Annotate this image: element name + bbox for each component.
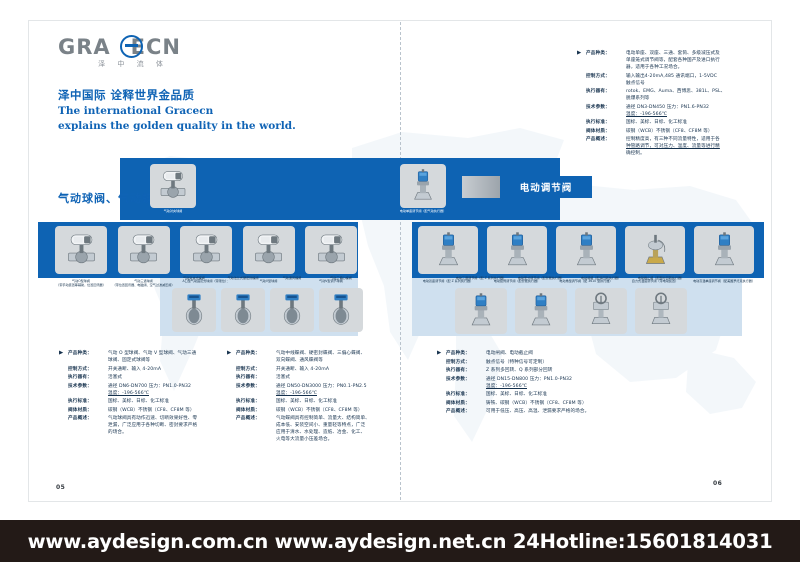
spec-value: Z 系列多回转、Q 系列部分回转 bbox=[486, 367, 622, 374]
caption-line-1: 电动高温单座调节阀（配美国罗托克执行器） bbox=[688, 279, 760, 283]
pneumatic-fixed-ball-valve-icon bbox=[187, 231, 226, 270]
spec-value-line: 温度：-196-566℃ bbox=[108, 390, 244, 397]
spec-value: 控制精度高，有三种不同流量特性，适用于各种管路调节，可对压力、温度、流量等进行精… bbox=[626, 136, 762, 157]
spec-value-line: 应用于清水、水处理、造纸、冶金、化工、 bbox=[276, 429, 412, 436]
slogan-block: 泽中国际 诠释世界金品质 The international Gracecn e… bbox=[58, 88, 296, 133]
spec-value-line: 气动蝶阀具有控制简单、流量大、结构简单、 bbox=[276, 415, 412, 422]
spec-key: 技术参数： bbox=[586, 104, 626, 118]
right-title-tail bbox=[462, 176, 502, 198]
spec-value-line: 国标、美标、日标、化工标准 bbox=[276, 398, 412, 405]
pneumatic-ventilation-butterfly-valve-icon bbox=[274, 292, 310, 328]
product-card-electric-gate-valve[interactable] bbox=[575, 288, 627, 334]
spec-value-line: 电动闸阀、电动截止阀 bbox=[486, 350, 622, 357]
spec-key: 技术参数： bbox=[446, 376, 486, 390]
product-card-electric-single-seat-control-valve[interactable] bbox=[400, 164, 446, 208]
spec-row: 控制方式：开关通断、输入 4-20mA bbox=[68, 366, 244, 373]
spec-row: 技术参数：通径 DN6-DN700 压力：PN1.0-PN32温度：-196-5… bbox=[68, 383, 244, 397]
product-card-electric-sleeve-control-valve[interactable] bbox=[487, 226, 547, 274]
spec-value: 气动中线蝶阀、硬密封蝶阀、三偏心蝶阀、双向蝶阀、通风蝶阀等 bbox=[276, 350, 412, 364]
caption-line-1: 电动三通调节阀（配 Z 系列执行器） bbox=[447, 276, 515, 280]
spec-value-line: 铸铁、碳钢（WCB）不锈钢（CF8、CF8M 等） bbox=[486, 400, 622, 407]
spec-value-line: 国标、美标、日标、化工标准 bbox=[486, 391, 622, 398]
footer-banner: www.aydesign.com.cn www.aydesign.net.cn … bbox=[0, 520, 800, 562]
spec-value: 电动闸阀、电动截止阀 bbox=[486, 350, 622, 357]
spec-value: 开关通断、输入 4-20mA bbox=[108, 366, 244, 373]
spec-key: 阀体材质： bbox=[446, 400, 486, 407]
spec-row: 技术参数：通径 DN50-DN3000 压力：PN0.1-PN2.5温度：-19… bbox=[236, 383, 412, 397]
spec-bullet-arrow-icon: ▶ bbox=[437, 350, 441, 356]
spec-row: 产品概述：可用于低压、高压、高温、泄漏要求严格的场合。 bbox=[446, 408, 622, 415]
caption-line-1: 电动截止阀（配部分回转执行器） bbox=[627, 276, 695, 280]
spec-row: 执行器有：活塞式 bbox=[236, 374, 412, 381]
spec-value-line: 通径 DN6-DN700 压力：PN1.0-PN32 bbox=[108, 383, 244, 390]
electric-single-seat-control-valve-icon bbox=[405, 168, 441, 204]
spec-value-line: 碳钢（WCB）不锈钢（CF8、CF8M 等） bbox=[626, 128, 762, 135]
product-caption-electric-three-way-control-valve: 电动三通调节阀（配 Z 系列执行器） bbox=[447, 276, 515, 280]
product-caption-electric-high-temp-control-valve: 电动高温单座调节阀（配美国罗托克执行器） bbox=[688, 279, 760, 283]
pneumatic-v-control-ball-valve-icon bbox=[312, 231, 351, 270]
caption-line-1: 气动三偏心蝶阀 bbox=[307, 276, 375, 280]
spec-value-line: 触点信号 bbox=[626, 80, 762, 87]
footer-contact-text: www.aydesign.com.cn www.aydesign.net.cn … bbox=[28, 530, 773, 553]
spec-value-line: 种管路调节，可对压力、温度、流量等进行精 bbox=[626, 143, 762, 150]
spec-row: 产品种类：电动单座、双座、三通、套筒、多级减压式及单座笼式调节阀等，配套各种国产… bbox=[586, 50, 762, 71]
spec-row: 控制方式：开关通断、输入 4-20mA bbox=[236, 366, 412, 373]
spec-key: 执行标准： bbox=[236, 398, 276, 405]
product-card-electric-double-seat-control-valve[interactable] bbox=[418, 226, 478, 274]
spec-row: 技术参数：通径 DN15-DN800 压力：PN1.0-PN32温度：-196-… bbox=[446, 376, 622, 390]
spec-value: 触点信号（特种信号可定制） bbox=[486, 359, 622, 366]
spec-block-pneumatic-ball-valve: ▶产品种类：气动 O 型球阀、气动 V 型球阀、气动三通球阀、固定式球阀等控制方… bbox=[68, 350, 244, 438]
spec-value: 铸铁、碳钢（WCB）不锈钢（CF8、CF8M 等） bbox=[486, 400, 622, 407]
spec-key: 产品概述： bbox=[236, 415, 276, 443]
spec-value: 碳钢（WCB）不锈钢（CF8、CF8M 等） bbox=[276, 407, 412, 414]
spec-row: 执行标准：国标、美标、日标、化工标准 bbox=[236, 398, 412, 405]
pneumatic-wafer-butterfly-valve-icon bbox=[176, 292, 212, 328]
spec-value: 国标、美标、日标、化工标准 bbox=[486, 391, 622, 398]
spec-row: 执行标准：国标、美标、日标、化工标准 bbox=[446, 391, 622, 398]
spec-value-line: 国标、美标、日标、化工标准 bbox=[108, 398, 244, 405]
spec-value: 国标、美标、日标、化工标准 bbox=[276, 398, 412, 405]
spec-value-line: 温度：-196-566℃ bbox=[626, 111, 762, 118]
spec-value-line: 球阀、固定式球阀等 bbox=[108, 357, 244, 364]
caption-line-2: （带位置回讯器、电磁阀、空气过滤减压阀） bbox=[109, 283, 179, 287]
spec-row: 阀体材质：碳钢（WCB）不锈钢（CF8、CF8M 等） bbox=[236, 407, 412, 414]
spec-key: 产品种类： bbox=[68, 350, 108, 364]
spec-value-line: 的场合。 bbox=[108, 429, 244, 436]
spec-key: 产品概述： bbox=[586, 136, 626, 157]
spec-value-line: 国标、美标、日标、化工标准 bbox=[626, 119, 762, 126]
spec-value-line: 双向蝶阀、通风蝶阀等 bbox=[276, 357, 412, 364]
spec-value: 国标、美标、日标、化工标准 bbox=[108, 398, 244, 405]
slogan-en-line2: explains the golden quality in the world… bbox=[58, 120, 296, 133]
spec-value: 通径 DN6-DN700 压力：PN1.0-PN32温度：-196-566℃ bbox=[108, 383, 244, 397]
product-card-electric-globe-valve[interactable] bbox=[635, 288, 687, 334]
product-card-self-operated-temperature-control-valve[interactable] bbox=[625, 226, 685, 274]
spec-row: 执行器有：活塞式 bbox=[68, 374, 244, 381]
spec-value-line: 通径 DN3-DN450 压力：PN1.6-PN32 bbox=[626, 104, 762, 111]
spec-value: 碳钢（WCB）不锈钢（CF8、CF8M 等） bbox=[626, 128, 762, 135]
spec-value-line: 温度：-196-566℃ bbox=[276, 390, 412, 397]
spec-key: 技术参数： bbox=[68, 383, 108, 397]
spec-value-line: 泄漏，广泛应用于各种切断、密封要求严格 bbox=[108, 422, 244, 429]
spec-key: 技术参数： bbox=[236, 383, 276, 397]
spec-row: 控制方式：输入输出4-20mA,485 通讯端口，1-5VDC触点信号 bbox=[586, 73, 762, 87]
spec-key: 产品种类： bbox=[446, 350, 486, 357]
spec-value: 气动蝶阀具有控制简单、流量大、结构简单、成本低、安装空间小、重量轻等特点，广泛应… bbox=[276, 415, 412, 443]
spec-row: 产品概述：气动球阀具有动作迅速、切断效果好性、零泄漏，广泛应用于各种切断、密封要… bbox=[68, 415, 244, 436]
electric-double-seat-control-valve-icon bbox=[429, 231, 468, 270]
product-caption-electric-cage-control-valve: 电动笼式调节阀（配智能执行器） bbox=[507, 276, 575, 280]
spec-value-line: 控制精度高，有三种不同流量特性，适用于各 bbox=[626, 136, 762, 143]
slogan-en-line1: The international Gracecn bbox=[58, 105, 296, 118]
pneumatic-triple-eccentric-butterfly-valve-icon bbox=[323, 292, 359, 328]
spec-key: 执行器有： bbox=[446, 367, 486, 374]
spec-value: 国标、美标、日标、化工标准 bbox=[626, 119, 762, 126]
product-card-pneumatic-v-control-ball-valve[interactable] bbox=[305, 226, 357, 274]
spec-key: 产品种类： bbox=[586, 50, 626, 71]
product-card-pneumatic-three-way-ball-valve[interactable] bbox=[118, 226, 170, 274]
spec-value-line: 成本低、安装空间小、重量轻等特点，广泛 bbox=[276, 422, 412, 429]
spec-row: 阀体材质：碳钢（WCB）不锈钢（CF8、CF8M 等） bbox=[586, 128, 762, 135]
electric-gate-valve-icon bbox=[582, 292, 620, 330]
footer-gap bbox=[0, 502, 800, 520]
spec-row: 产品种类：电动闸阀、电动截止阀 bbox=[446, 350, 622, 357]
spec-value-line: 输入输出4-20mA,485 通讯端口，1-5VDC bbox=[626, 73, 762, 80]
product-card-pneumatic-o-ball-valve[interactable] bbox=[55, 226, 107, 274]
caption-line-1: 电动笼式调节阀（配智能执行器） bbox=[507, 276, 575, 280]
logo-word-head: GRA bbox=[58, 35, 111, 59]
spec-value: 碳钢（WCB）不锈钢（CF8、CF8M 等） bbox=[108, 407, 244, 414]
product-card-pneumatic-triple-eccentric-butterfly-valve[interactable] bbox=[319, 288, 363, 332]
electric-three-way-control-valve-icon bbox=[462, 292, 500, 330]
spec-block-pneumatic-butterfly-valve: ▶产品种类：气动中线蝶阀、硬密封蝶阀、三偏心蝶阀、双向蝶阀、通风蝶阀等控制方式：… bbox=[236, 350, 412, 445]
spec-key: 产品概述： bbox=[68, 415, 108, 436]
spec-row: 产品种类：气动中线蝶阀、硬密封蝶阀、三偏心蝶阀、双向蝶阀、通风蝶阀等 bbox=[236, 350, 412, 364]
pneumatic-v-ball-valve-icon bbox=[249, 231, 288, 270]
caption-line-1: 气动对夹球阀 bbox=[130, 209, 216, 213]
caption-line-1: 电动闸阀（配多回转执行器） bbox=[567, 276, 635, 280]
electric-globe-valve-icon bbox=[642, 292, 680, 330]
spec-key: 控制方式： bbox=[586, 73, 626, 87]
spec-block-electric-control-valve: ▶产品种类：电动单座、双座、三通、套筒、多级减压式及单座笼式调节阀等，配套各种国… bbox=[586, 50, 762, 159]
product-card-pneumatic-ventilation-butterfly-valve[interactable] bbox=[270, 288, 314, 332]
spec-value-line: 开关通断、输入 4-20mA bbox=[276, 366, 412, 373]
spec-block-electric-gate-globe-valve: ▶产品种类：电动闸阀、电动截止阀控制方式：触点信号（特种信号可定制）执行器有：Z… bbox=[446, 350, 622, 417]
spec-value: 通径 DN3-DN450 压力：PN1.6-PN32温度：-196-566℃ bbox=[626, 104, 762, 118]
spec-key: 控制方式： bbox=[446, 359, 486, 366]
spec-row: 阀体材质：铸铁、碳钢（WCB）不锈钢（CF8、CF8M 等） bbox=[446, 400, 622, 407]
spec-value-line: 确控制。 bbox=[626, 150, 762, 157]
pneumatic-o-ball-valve-icon bbox=[62, 231, 101, 270]
pneumatic-three-way-ball-valve-icon bbox=[124, 231, 163, 270]
caption-line-2: （带手动装置等辅助，位置回讯器） bbox=[46, 283, 116, 287]
self-operated-temperature-control-valve-icon bbox=[636, 231, 675, 270]
product-card-pneumatic-ball-valve[interactable] bbox=[150, 164, 196, 208]
spec-bullet-arrow-icon: ▶ bbox=[577, 50, 581, 56]
spec-row: 产品概述：气动蝶阀具有控制简单、流量大、结构简单、成本低、安装空间小、重量轻等特… bbox=[236, 415, 412, 443]
spec-value: 可用于低压、高压、高温、泄漏要求严格的场合。 bbox=[486, 408, 622, 415]
product-card-electric-three-way-control-valve[interactable] bbox=[455, 288, 507, 334]
spec-value-line: 通径 DN15-DN800 压力：PN1.0-PN32 bbox=[486, 376, 622, 383]
spec-key: 控制方式： bbox=[68, 366, 108, 373]
spec-value-line: 气动中线蝶阀、硬密封蝶阀、三偏心蝶阀、 bbox=[276, 350, 412, 357]
spec-key: 产品种类： bbox=[236, 350, 276, 364]
spec-bullet-arrow-icon: ▶ bbox=[59, 350, 63, 356]
spec-key: 执行器有： bbox=[236, 374, 276, 381]
company-logo: GRAECN 泽 中 流 体 bbox=[58, 36, 208, 70]
spec-key: 阀体材质： bbox=[68, 407, 108, 414]
product-card-pneumatic-v-ball-valve[interactable] bbox=[243, 226, 295, 274]
spec-value-line: 脱爆系列等 bbox=[626, 95, 762, 102]
spec-value-line: 碳钢（WCB）不锈钢（CF8、CF8M 等） bbox=[276, 407, 412, 414]
spec-value-line: 触点信号（特种信号可定制） bbox=[486, 359, 622, 366]
spec-value-line: 活塞式 bbox=[108, 374, 244, 381]
spec-row: 阀体材质：碳钢（WCB）不锈钢（CF8、CF8M 等） bbox=[68, 407, 244, 414]
product-card-pneumatic-wafer-butterfly-valve[interactable] bbox=[172, 288, 216, 332]
product-card-electric-angle-control-valve[interactable] bbox=[556, 226, 616, 274]
pneumatic-ball-valve-icon bbox=[155, 168, 191, 204]
spec-value-line: 气动 O 型球阀、气动 V 型球阀、气动三通 bbox=[108, 350, 244, 357]
spec-key: 执行标准： bbox=[586, 119, 626, 126]
product-caption-pneumatic-o-ball-valve: 气动O型球阀（带手动装置等辅助，位置回讯器） bbox=[46, 279, 116, 287]
electric-angle-control-valve-icon bbox=[567, 231, 606, 270]
section-title-right: 电动调节阀 bbox=[500, 176, 592, 198]
electric-sleeve-control-valve-icon bbox=[498, 231, 537, 270]
spec-key: 控制方式： bbox=[236, 366, 276, 373]
spec-key: 执行器有： bbox=[68, 374, 108, 381]
page-number-right: 06 bbox=[713, 480, 722, 487]
spec-value: 活塞式 bbox=[108, 374, 244, 381]
spec-value-line: 开关通断、输入 4-20mA bbox=[108, 366, 244, 373]
spec-value-line: rotok、EMG、Auma、西博思、381L、PSL、 bbox=[626, 88, 762, 95]
logo-subtext: 泽 中 流 体 bbox=[58, 59, 208, 69]
spec-row: 执行器有：Z 系列多回转、Q 系列部分回转 bbox=[446, 367, 622, 374]
slogan-cn: 泽中国际 诠释世界金品质 bbox=[58, 88, 296, 103]
spec-key: 阀体材质： bbox=[586, 128, 626, 135]
caption-line-1: 电动单座调节阀（配气动执行器） bbox=[380, 209, 466, 213]
product-caption-electric-gate-valve: 电动闸阀（配多回转执行器） bbox=[567, 276, 635, 280]
spec-row: 技术参数：通径 DN3-DN450 压力：PN1.6-PN32温度：-196-5… bbox=[586, 104, 762, 118]
spec-value-line: 单座笼式调节阀等，配套各种国产及进口执行 bbox=[626, 57, 762, 64]
electric-cage-control-valve-icon bbox=[522, 292, 560, 330]
spec-value-line: 火电等大流量小压差场合。 bbox=[276, 436, 412, 443]
spec-value-line: 碳钢（WCB）不锈钢（CF8、CF8M 等） bbox=[108, 407, 244, 414]
spec-value-line: 气动球阀具有动作迅速、切断效果好性、零 bbox=[108, 415, 244, 422]
product-caption-pneumatic-triple-eccentric-butterfly-valve: 气动三偏心蝶阀 bbox=[307, 276, 375, 280]
product-card-pneumatic-flange-butterfly-valve[interactable] bbox=[221, 288, 265, 332]
spec-value-line: Z 系列多回转、Q 系列部分回转 bbox=[486, 367, 622, 374]
product-caption-pneumatic-three-way-ball-valve: 气动三通球阀（带位置回讯器、电磁阀、空气过滤减压阀） bbox=[109, 279, 179, 287]
spec-bullet-arrow-icon: ▶ bbox=[227, 350, 231, 356]
spec-row: 执行标准：国标、美标、日标、化工标准 bbox=[68, 398, 244, 405]
spec-row: 产品概述：控制精度高，有三种不同流量特性，适用于各种管路调节，可对压力、温度、流… bbox=[586, 136, 762, 157]
spec-value: 通径 DN15-DN800 压力：PN1.0-PN32温度：-196-566℃ bbox=[486, 376, 622, 390]
logo-circle-c-icon bbox=[120, 35, 143, 58]
catalog-spread-page: GRAECN 泽 中 流 体 泽中国际 诠释世界金品质 The internat… bbox=[0, 0, 800, 562]
product-card-electric-cage-control-valve[interactable] bbox=[515, 288, 567, 334]
spec-value-line: 活塞式 bbox=[276, 374, 412, 381]
spec-key: 执行器有： bbox=[586, 88, 626, 102]
product-card-pneumatic-fixed-ball-valve[interactable] bbox=[180, 226, 232, 274]
spec-value: 气动 O 型球阀、气动 V 型球阀、气动三通球阀、固定式球阀等 bbox=[108, 350, 244, 364]
page-number-left: 05 bbox=[56, 484, 65, 491]
spec-row: 执行标准：国标、美标、日标、化工标准 bbox=[586, 119, 762, 126]
spec-value-line: 电动单座、双座、三通、套筒、多级减压式及 bbox=[626, 50, 762, 57]
spec-value: 气动球阀具有动作迅速、切断效果好性、零泄漏，广泛应用于各种切断、密封要求严格的场… bbox=[108, 415, 244, 436]
product-caption-electric-single-seat-control-valve: 电动单座调节阀（配气动执行器） bbox=[380, 209, 466, 213]
spec-value-line: 器，适用于各种工况场合。 bbox=[626, 64, 762, 71]
spec-key: 产品概述： bbox=[446, 408, 486, 415]
spec-value-line: 温度：-196-566℃ bbox=[486, 383, 622, 390]
spec-row: 控制方式：触点信号（特种信号可定制） bbox=[446, 359, 622, 366]
product-caption-electric-globe-valve: 电动截止阀（配部分回转执行器） bbox=[627, 276, 695, 280]
spec-key: 阀体材质： bbox=[236, 407, 276, 414]
pneumatic-flange-butterfly-valve-icon bbox=[225, 292, 261, 328]
spec-row: 产品种类：气动 O 型球阀、气动 V 型球阀、气动三通球阀、固定式球阀等 bbox=[68, 350, 244, 364]
electric-high-temp-control-valve-icon bbox=[705, 231, 744, 270]
spec-key: 执行标准： bbox=[68, 398, 108, 405]
spec-row: 执行器有：rotok、EMG、Auma、西博思、381L、PSL、脱爆系列等 bbox=[586, 88, 762, 102]
spec-value: 输入输出4-20mA,485 通讯端口，1-5VDC触点信号 bbox=[626, 73, 762, 87]
spec-value: 开关通断、输入 4-20mA bbox=[276, 366, 412, 373]
spec-value: 活塞式 bbox=[276, 374, 412, 381]
spec-value-line: 可用于低压、高压、高温、泄漏要求严格的场合。 bbox=[486, 408, 622, 415]
spec-value: 通径 DN50-DN3000 压力：PN0.1-PN2.5温度：-196-566… bbox=[276, 383, 412, 397]
product-caption-pneumatic-ball-valve: 气动对夹球阀 bbox=[130, 209, 216, 213]
spec-value: rotok、EMG、Auma、西博思、381L、PSL、脱爆系列等 bbox=[626, 88, 762, 102]
spec-value-line: 通径 DN50-DN3000 压力：PN0.1-PN2.5 bbox=[276, 383, 412, 390]
spec-key: 执行标准： bbox=[446, 391, 486, 398]
product-card-electric-high-temp-control-valve[interactable] bbox=[694, 226, 754, 274]
spec-value: 电动单座、双座、三通、套筒、多级减压式及单座笼式调节阀等，配套各种国产及进口执行… bbox=[626, 50, 762, 71]
